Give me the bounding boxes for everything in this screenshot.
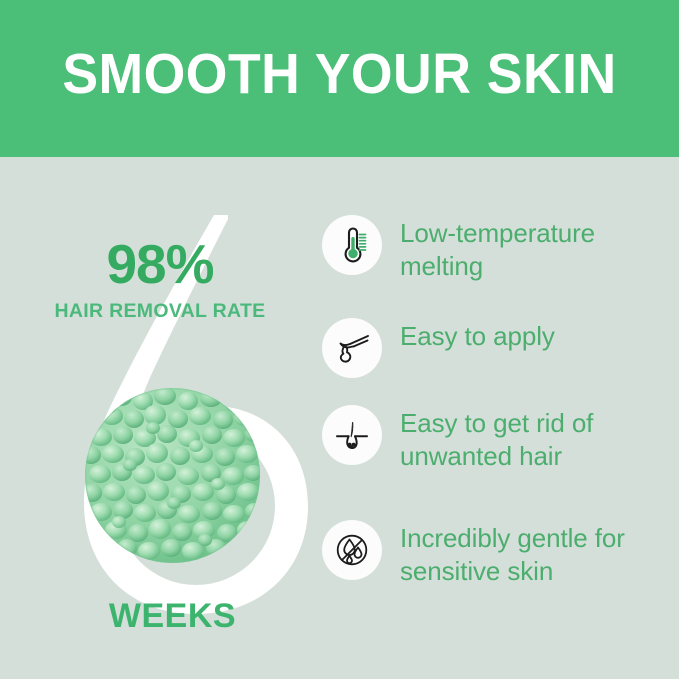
feature-label-line1: Low-temperature	[400, 218, 595, 248]
feature-label: Easy to get rid of unwanted hair	[400, 405, 679, 473]
feature-label-line2: unwanted hair	[400, 441, 562, 471]
product-infographic: SMOOTH YOUR SKIN 98% HAIR REMOVAL RATE	[0, 0, 679, 679]
stat-panel: 98% HAIR REMOVAL RATE	[0, 157, 320, 679]
no-irritation-icon	[322, 520, 382, 580]
feature-label-line1: Easy to apply	[400, 321, 555, 351]
feature-label-line2: sensitive skin	[400, 556, 553, 586]
feature-label: Low-temperature melting	[400, 215, 679, 283]
feature-item-easy-to-apply: Easy to apply	[322, 318, 679, 378]
thermometer-icon	[322, 215, 382, 275]
feature-label-line1: Easy to get rid of	[400, 408, 593, 438]
feature-item-low-temperature: Low-temperature melting	[322, 215, 679, 283]
feature-item-remove-unwanted-hair: Easy to get rid of unwanted hair	[322, 405, 679, 473]
hair-removal-rate-value: 98%	[0, 237, 320, 292]
page-title: SMOOTH YOUR SKIN	[20, 44, 658, 104]
feature-label-line2: melting	[400, 251, 483, 281]
hair-removal-rate-label: HAIR REMOVAL RATE	[0, 300, 320, 322]
feature-label: Easy to apply	[400, 318, 679, 353]
feature-label-line1: Incredibly gentle for	[400, 523, 625, 553]
wax-beads-image	[85, 388, 260, 563]
duration-unit-label: WEEKS	[0, 597, 345, 635]
hair-follicle-icon	[322, 405, 382, 465]
feature-item-gentle-sensitive-skin: Incredibly gentle for sensitive skin	[322, 520, 679, 588]
feature-label: Incredibly gentle for sensitive skin	[400, 520, 679, 588]
wax-applicator-icon	[322, 318, 382, 378]
